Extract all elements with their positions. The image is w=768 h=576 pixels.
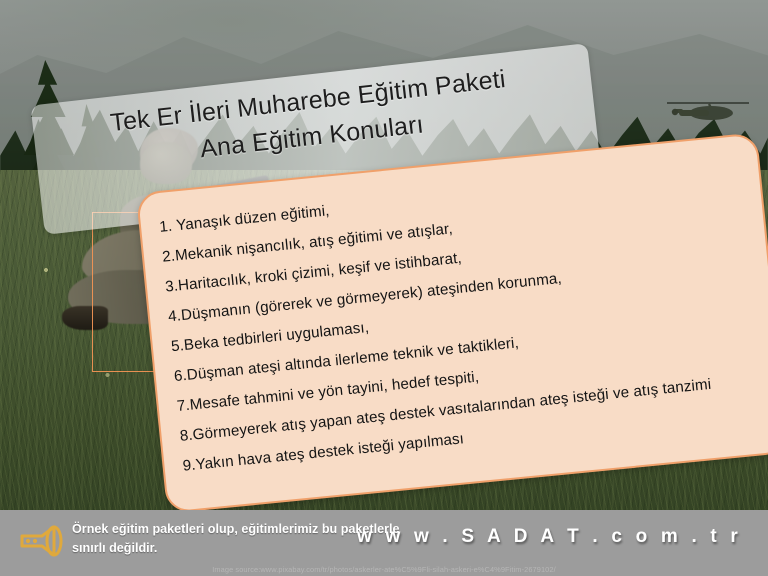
megaphone-icon (16, 522, 68, 560)
topics-list: 1. Yanaşık düzen eğitimi, 2.Mekanik nişa… (158, 156, 767, 481)
footer-bar: Örnek eğitim paketleri olup, eğitimlerim… (0, 510, 768, 576)
topics-list-container: 1. Yanaşık düzen eğitimi, 2.Mekanik nişa… (136, 133, 768, 510)
slide-root: Tek Er İleri Muharebe Eğitim Paketi Ana … (0, 0, 768, 576)
website-url[interactable]: w w w . S A D A T . c o m . t r (357, 526, 742, 548)
image-source-credit: Image source:www.pixabay.com/tr/photos/a… (0, 565, 768, 574)
